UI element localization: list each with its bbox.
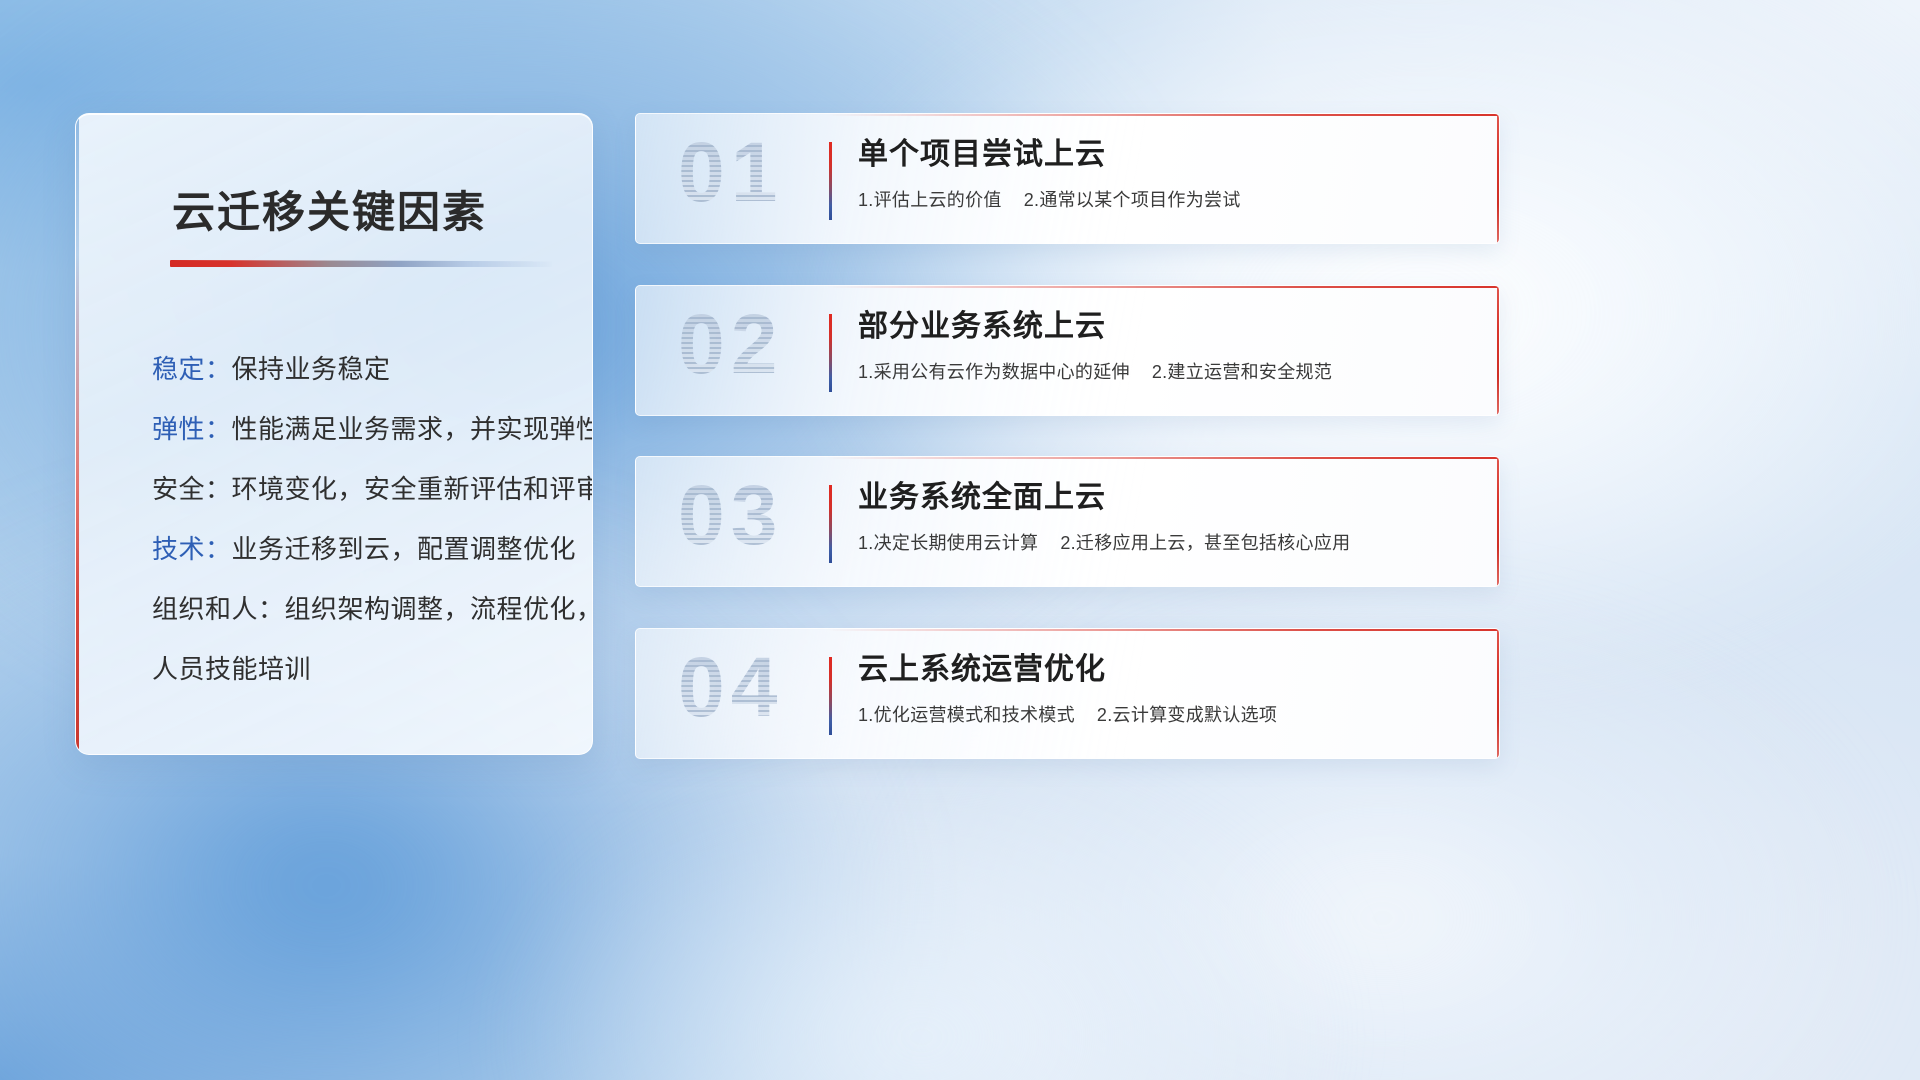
factor-label: 组织和人： <box>152 594 285 624</box>
factor-label: 弹性： <box>152 414 232 444</box>
step-number-03: 03 <box>678 473 783 557</box>
step-title: 业务系统全面上云 <box>858 479 1473 517</box>
step-points: 1.决定长期使用云计算2.迁移应用上云，甚至包括核心应用 <box>858 531 1473 556</box>
step-point: 2.迁移应用上云，甚至包括核心应用 <box>1060 533 1350 553</box>
factor-row: 安全：环境变化，安全重新评估和评审 <box>152 459 548 519</box>
factor-label: 技术： <box>152 534 232 564</box>
factor-value-continuation: 人员技能培训 <box>152 639 548 699</box>
step-number-02: 02 <box>678 302 783 386</box>
factor-list: 稳定：保持业务稳定 弹性：性能满足业务需求，并实现弹性 安全：环境变化，安全重新… <box>152 339 548 699</box>
step-title: 云上系统运营优化 <box>858 651 1473 689</box>
key-factors-panel-content: 云迁移关键因素 稳定：保持业务稳定 弹性：性能满足业务需求，并实现弹性 安全：环… <box>76 114 592 754</box>
key-factors-panel: 云迁移关键因素 稳定：保持业务稳定 弹性：性能满足业务需求，并实现弹性 安全：环… <box>75 113 593 755</box>
page-title: 云迁移关键因素 <box>172 178 548 240</box>
factor-value: 业务迁移到云，配置调整优化 <box>232 534 577 564</box>
step-card-02[interactable]: 02 部分业务系统上云 1.采用公有云作为数据中心的延伸2.建立运营和安全规范 <box>635 285 1500 416</box>
step-point: 1.采用公有云作为数据中心的延伸 <box>858 362 1130 382</box>
step-point: 1.决定长期使用云计算 <box>858 533 1038 553</box>
step-body: 云上系统运营优化 1.优化运营模式和技术模式2.云计算变成默认选项 <box>858 651 1473 728</box>
step-body: 单个项目尝试上云 1.评估上云的价值2.通常以某个项目作为尝试 <box>858 136 1473 213</box>
title-underline-rule <box>170 260 552 267</box>
factor-value: 性能满足业务需求，并实现弹性 <box>232 414 593 444</box>
factor-value: 保持业务稳定 <box>232 354 391 384</box>
step-divider <box>829 314 832 392</box>
step-points: 1.采用公有云作为数据中心的延伸2.建立运营和安全规范 <box>858 360 1473 385</box>
step-points: 1.评估上云的价值2.通常以某个项目作为尝试 <box>858 188 1473 213</box>
step-card-01[interactable]: 01 单个项目尝试上云 1.评估上云的价值2.通常以某个项目作为尝试 <box>635 113 1500 244</box>
step-card-03[interactable]: 03 业务系统全面上云 1.决定长期使用云计算2.迁移应用上云，甚至包括核心应用 <box>635 456 1500 587</box>
factor-row: 组织和人：组织架构调整，流程优化， <box>152 579 548 639</box>
step-title: 单个项目尝试上云 <box>858 136 1473 174</box>
step-number-01: 01 <box>678 130 783 214</box>
slide-stage: 云迁移关键因素 稳定：保持业务稳定 弹性：性能满足业务需求，并实现弹性 安全：环… <box>0 0 1920 1080</box>
step-body: 业务系统全面上云 1.决定长期使用云计算2.迁移应用上云，甚至包括核心应用 <box>858 479 1473 556</box>
step-card-04[interactable]: 04 云上系统运营优化 1.优化运营模式和技术模式2.云计算变成默认选项 <box>635 628 1500 759</box>
step-point: 2.建立运营和安全规范 <box>1152 362 1332 382</box>
step-point: 2.云计算变成默认选项 <box>1097 705 1277 725</box>
factor-row: 弹性：性能满足业务需求，并实现弹性 <box>152 399 548 459</box>
step-divider <box>829 142 832 220</box>
factor-row: 技术：业务迁移到云，配置调整优化 <box>152 519 548 579</box>
step-body: 部分业务系统上云 1.采用公有云作为数据中心的延伸2.建立运营和安全规范 <box>858 308 1473 385</box>
factor-value: 组织架构调整，流程优化， <box>285 594 593 624</box>
factor-label: 安全： <box>152 474 232 504</box>
step-points: 1.优化运营模式和技术模式2.云计算变成默认选项 <box>858 703 1473 728</box>
step-point: 2.通常以某个项目作为尝试 <box>1024 190 1241 210</box>
step-point: 1.优化运营模式和技术模式 <box>858 705 1075 725</box>
factor-row: 稳定：保持业务稳定 <box>152 339 548 399</box>
step-title: 部分业务系统上云 <box>858 308 1473 346</box>
step-divider <box>829 485 832 563</box>
factor-label: 稳定： <box>152 354 232 384</box>
factor-value: 环境变化，安全重新评估和评审 <box>232 474 593 504</box>
step-number-04: 04 <box>678 645 783 729</box>
step-divider <box>829 657 832 735</box>
step-point: 1.评估上云的价值 <box>858 190 1002 210</box>
